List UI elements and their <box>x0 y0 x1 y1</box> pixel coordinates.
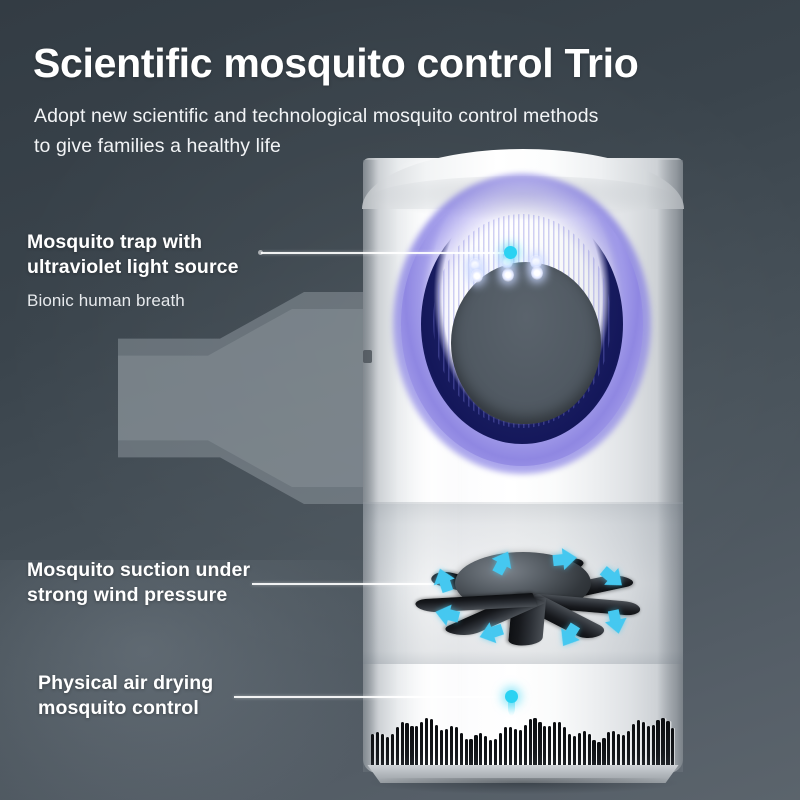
grille-slot <box>632 724 635 769</box>
grille-slot <box>465 739 468 768</box>
grille-slot <box>666 721 669 768</box>
grille-slot <box>642 722 645 768</box>
grille-slot <box>602 738 605 768</box>
callout-air-drying: Physical air drying mosquito control <box>38 671 213 722</box>
grille-slot <box>563 727 566 768</box>
grille-slot <box>661 718 664 768</box>
grille-slot <box>578 733 581 768</box>
page-title: Scientific mosquito control Trio <box>33 42 773 85</box>
grille-slot <box>637 720 640 768</box>
grille-slot <box>652 725 655 768</box>
grille-slot <box>386 737 389 768</box>
grille-slot <box>588 734 591 768</box>
grille-slot <box>592 740 595 768</box>
grille-slot <box>381 734 384 768</box>
grille-slot <box>514 729 517 768</box>
callout-fan-suction: Mosquito suction under strong wind press… <box>27 558 250 609</box>
uv-light-ring <box>391 166 653 486</box>
led-light-icon <box>471 269 483 283</box>
grille-slot <box>479 733 482 768</box>
grille-slot <box>494 739 497 768</box>
grille-slot <box>440 730 443 769</box>
grille-slot <box>391 734 394 768</box>
grille-slot <box>376 732 379 768</box>
led-light-icon <box>531 266 543 280</box>
grille-slot <box>568 734 571 768</box>
uv-ring-aperture <box>451 262 601 424</box>
airflow-arrow-icon <box>430 565 459 597</box>
grille-slot <box>529 719 532 768</box>
grille-slot <box>573 736 576 768</box>
grille-slot <box>622 735 625 768</box>
leader-line-uv-trap <box>261 252 509 254</box>
product-illustration <box>363 150 683 795</box>
grille-slot <box>553 722 556 768</box>
grille-slot <box>543 726 546 768</box>
grille-slot <box>548 726 551 769</box>
leader-line-air-drying <box>234 696 510 698</box>
callout-uv-trap-title: Mosquito trap with ultraviolet light sou… <box>27 230 239 281</box>
grille-slot <box>504 727 507 768</box>
grille-slot <box>371 734 374 768</box>
grille-slot <box>509 727 512 769</box>
grille-slot <box>607 732 610 768</box>
grille-slot <box>455 727 458 768</box>
grille-slot <box>533 718 536 768</box>
leader-endpoint-dot-air-drying <box>505 690 518 703</box>
product-base-shadow <box>369 778 677 794</box>
grille-slot <box>524 725 527 768</box>
grille-slot <box>671 728 674 768</box>
grille-slot <box>410 726 413 768</box>
grille-slot <box>647 726 650 768</box>
infographic-canvas: Scientific mosquito control Trio Adopt n… <box>0 0 800 800</box>
grille-slot <box>656 720 659 768</box>
grille-slot <box>445 729 448 768</box>
grille-slot <box>489 740 492 768</box>
grille-slot <box>401 722 404 768</box>
callout-uv-trap: Mosquito trap with ultraviolet light sou… <box>27 230 239 312</box>
grille-slot <box>519 730 522 768</box>
grille-slot <box>499 733 502 768</box>
sensor-port-icon <box>363 350 372 363</box>
page-subtitle-line-1: Adopt new scientific and technological m… <box>34 102 773 132</box>
grille-slot <box>538 722 541 768</box>
grille-slot <box>415 726 418 768</box>
grille-slot <box>430 719 433 768</box>
grille-slot <box>583 731 586 768</box>
grille-slot <box>627 731 630 769</box>
callout-fan-suction-title: Mosquito suction under strong wind press… <box>27 558 250 609</box>
leader-endpoint-dot-uv-trap <box>504 246 517 259</box>
grille-slot <box>435 725 438 768</box>
grille-slot <box>612 731 615 768</box>
grille-slot <box>396 727 399 768</box>
grille-slot <box>597 742 600 768</box>
grille-slot <box>425 718 428 769</box>
led-light-icon <box>502 268 514 282</box>
grille-slot <box>617 734 620 769</box>
grille-slot <box>469 739 472 768</box>
grille-slot <box>474 735 477 768</box>
grille-slot <box>420 722 423 768</box>
callout-uv-trap-subtitle: Bionic human breath <box>27 290 239 312</box>
grille-slot <box>450 726 453 768</box>
grille-slot <box>484 736 487 768</box>
product-body-right-edge <box>657 160 683 772</box>
grille-slot <box>460 733 463 768</box>
grille-slot <box>405 723 408 768</box>
grille-slot <box>558 722 561 768</box>
airflow-arrow-icon <box>550 547 578 572</box>
header-block: Scientific mosquito control Trio Adopt n… <box>33 42 773 161</box>
callout-air-drying-title: Physical air drying mosquito control <box>38 671 213 722</box>
bottom-air-grille <box>371 706 675 768</box>
